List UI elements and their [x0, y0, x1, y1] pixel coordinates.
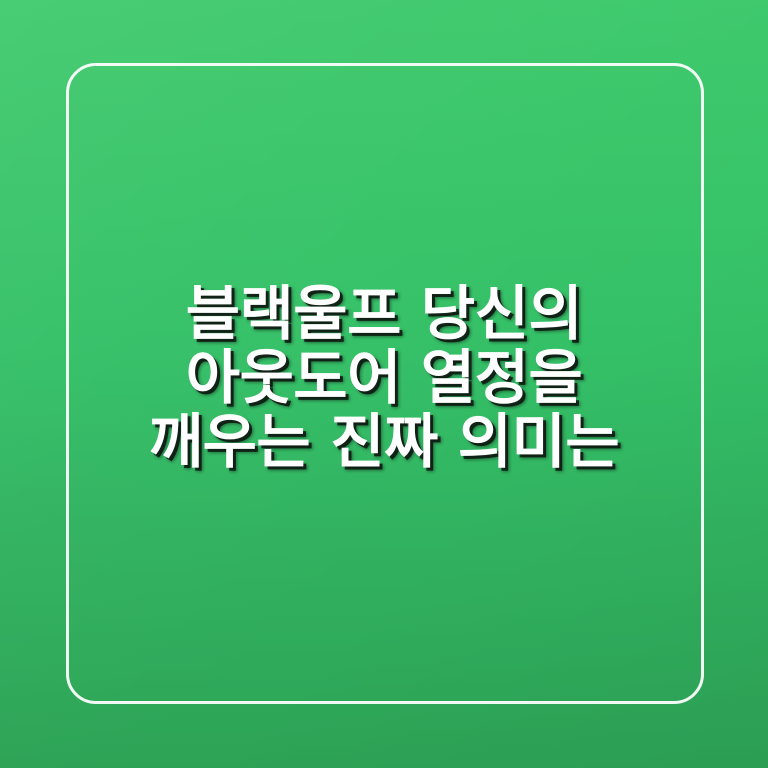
- headline-line-1: 블랙울프 당신의: [60, 282, 708, 346]
- headline-text-block: 블랙울프 당신의 아웃도어 열정을 깨우는 진짜 의미는: [0, 282, 768, 474]
- poster-canvas: 블랙울프 당신의 아웃도어 열정을 깨우는 진짜 의미는: [0, 0, 768, 768]
- headline-line-2: 아웃도어 열정을: [60, 346, 708, 410]
- headline-line-3: 깨우는 진짜 의미는: [60, 410, 708, 474]
